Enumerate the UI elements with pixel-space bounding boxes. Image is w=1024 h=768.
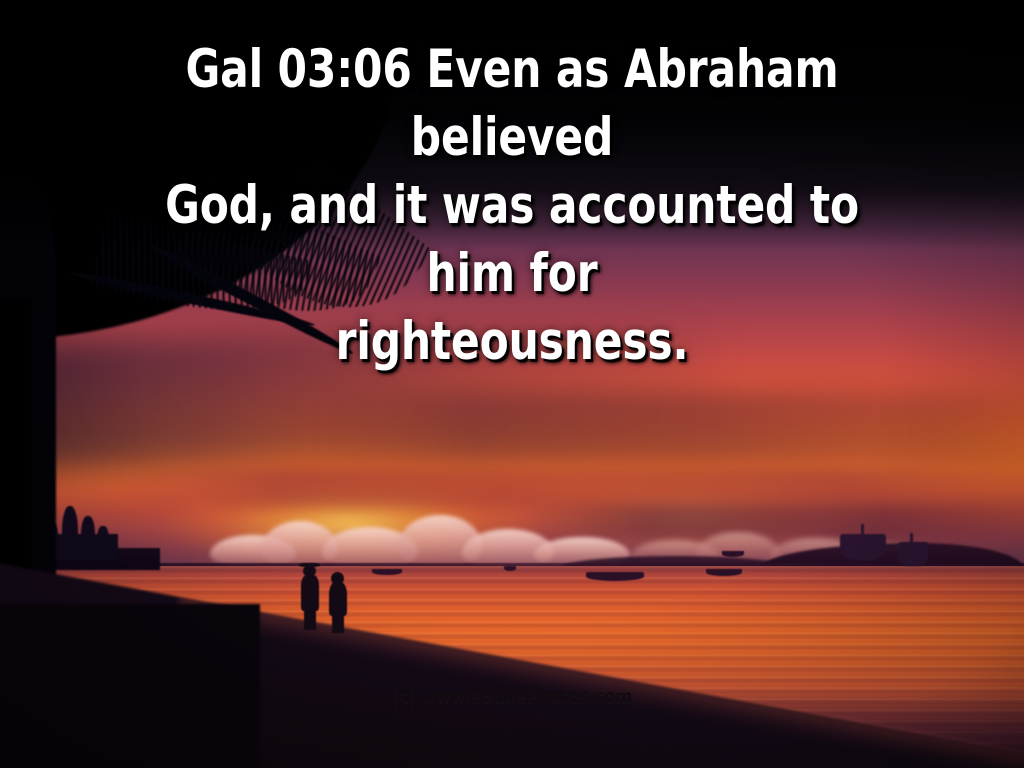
- large-boat-2-mast: [910, 533, 913, 544]
- small-boat-2: [504, 566, 516, 571]
- person-left-hat: [299, 563, 320, 567]
- person-right-body: [329, 582, 347, 616]
- sunset-photograph: [0, 0, 1024, 768]
- large-boat-2: [898, 542, 928, 566]
- small-boat-4: [706, 569, 742, 576]
- large-boat-1-mast: [861, 524, 864, 536]
- small-boat-5: [722, 551, 744, 557]
- watermark: (c) www.eBiblePhotos.com: [72, 686, 953, 708]
- small-boat-1: [372, 569, 402, 575]
- verse-image-canvas: Gal 03:06 Even as Abraham believed God, …: [0, 0, 1024, 768]
- cloud-band-lower: [120, 468, 1020, 508]
- person-right-legs: [332, 613, 344, 633]
- small-boat-3: [586, 572, 644, 581]
- large-boat-1: [840, 534, 886, 560]
- cumulus-cloud-cluster-left: [210, 505, 630, 567]
- person-left-body: [301, 575, 319, 611]
- person-left-legs: [304, 608, 316, 630]
